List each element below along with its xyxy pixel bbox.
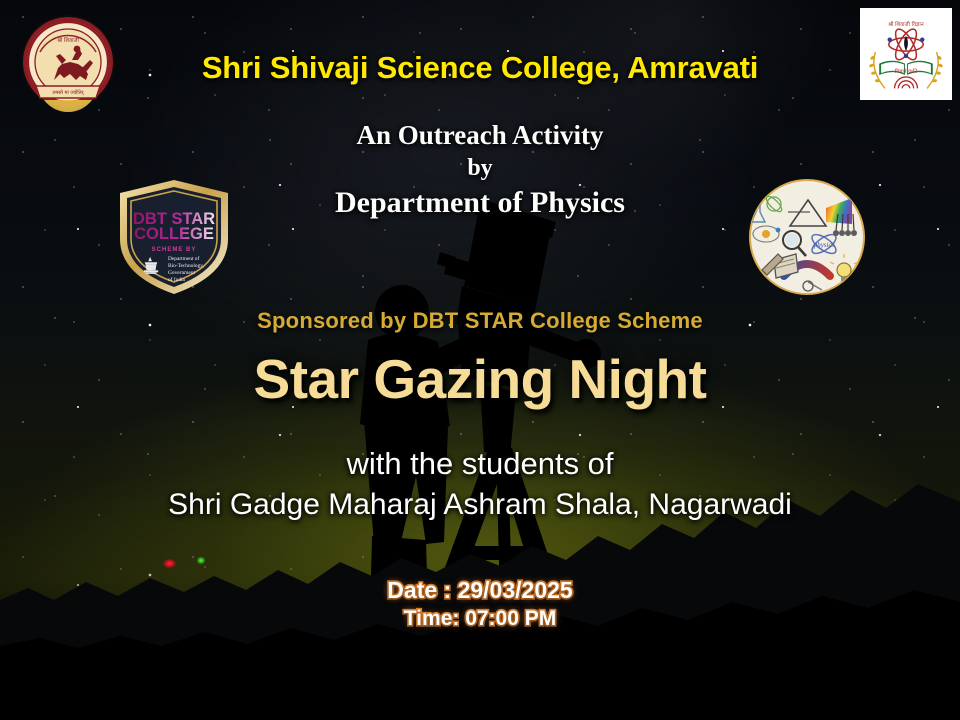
text-overlay-layer: Shri Shivaji Science College, Amravati A… xyxy=(0,0,960,720)
participants-line-2: Shri Gadge Maharaj Ashram Shala, Nagarwa… xyxy=(0,484,960,526)
participants-line-1: with the students of xyxy=(0,443,960,484)
event-datetime-block: Date : 29/03/2025 Time: 07:00 PM xyxy=(0,576,960,633)
page-title: Shri Shivaji Science College, Amravati xyxy=(0,50,960,86)
sponsor-text: Sponsored by DBT STAR College Scheme xyxy=(0,308,960,334)
event-date: Date : 29/03/2025 xyxy=(387,576,572,605)
activity-line-1: An Outreach Activity xyxy=(0,118,960,152)
participants-block: with the students of Shri Gadge Maharaj … xyxy=(0,443,960,526)
poster-canvas: श्री शिवाजी तमसो मा ज्योतिर् श्री शिवाजी… xyxy=(0,0,960,720)
event-time: Time: 07:00 PM xyxy=(404,605,557,633)
event-time-row: Time: 07:00 PM xyxy=(0,605,960,633)
activity-block: An Outreach Activity by Department of Ph… xyxy=(0,118,960,222)
event-headline: Star Gazing Night xyxy=(0,347,960,411)
activity-line-2: by xyxy=(0,152,960,184)
activity-line-3: Department of Physics xyxy=(0,184,960,222)
event-date-row: Date : 29/03/2025 xyxy=(0,576,960,605)
